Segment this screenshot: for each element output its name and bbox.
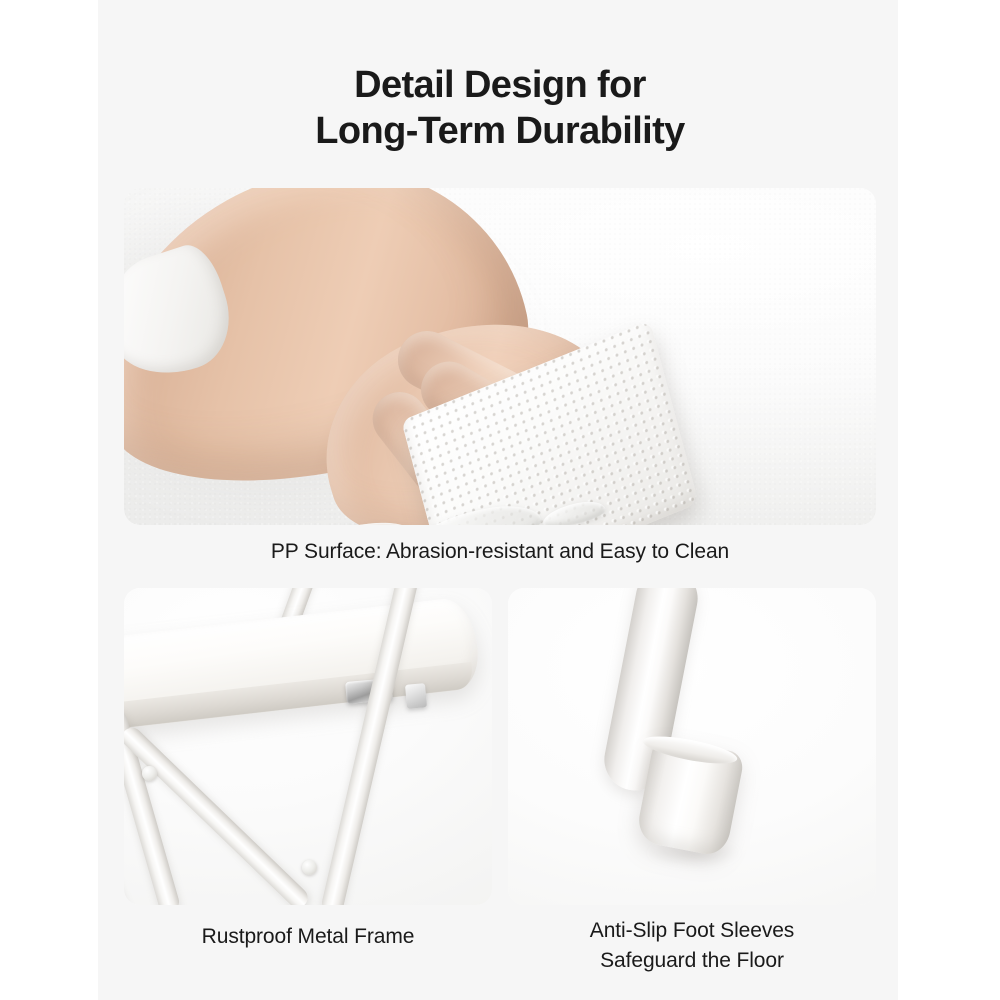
chrome-hinge-bracket-secondary	[405, 683, 427, 709]
page-title-line-1: Detail Design for	[0, 62, 1000, 108]
metal-frame-caption: Rustproof Metal Frame	[124, 922, 492, 952]
pp-surface-caption: PP Surface: Abrasion-resistant and Easy …	[124, 537, 876, 567]
infographic-page: Detail Design for Long-Term Durability	[0, 0, 1000, 1000]
page-title-line-2: Long-Term Durability	[0, 108, 1000, 154]
metal-frame-caption-text: Rustproof Metal Frame	[124, 922, 492, 952]
pp-surface-caption-text: PP Surface: Abrasion-resistant and Easy …	[124, 537, 876, 567]
foot-sleeve-caption-line-2: Safeguard the Floor	[508, 946, 876, 976]
foot-sleeve-image-panel	[508, 588, 876, 905]
foot-sleeve-caption: Anti-Slip Foot Sleeves Safeguard the Flo…	[508, 916, 876, 976]
metal-frame-image-panel	[124, 588, 492, 905]
pp-surface-image-panel	[124, 188, 876, 525]
frame-rivet-upper	[142, 766, 157, 781]
frame-rivet-lower	[302, 860, 317, 875]
foot-sleeve-caption-line-1: Anti-Slip Foot Sleeves	[508, 916, 876, 946]
page-title: Detail Design for Long-Term Durability	[0, 62, 1000, 154]
